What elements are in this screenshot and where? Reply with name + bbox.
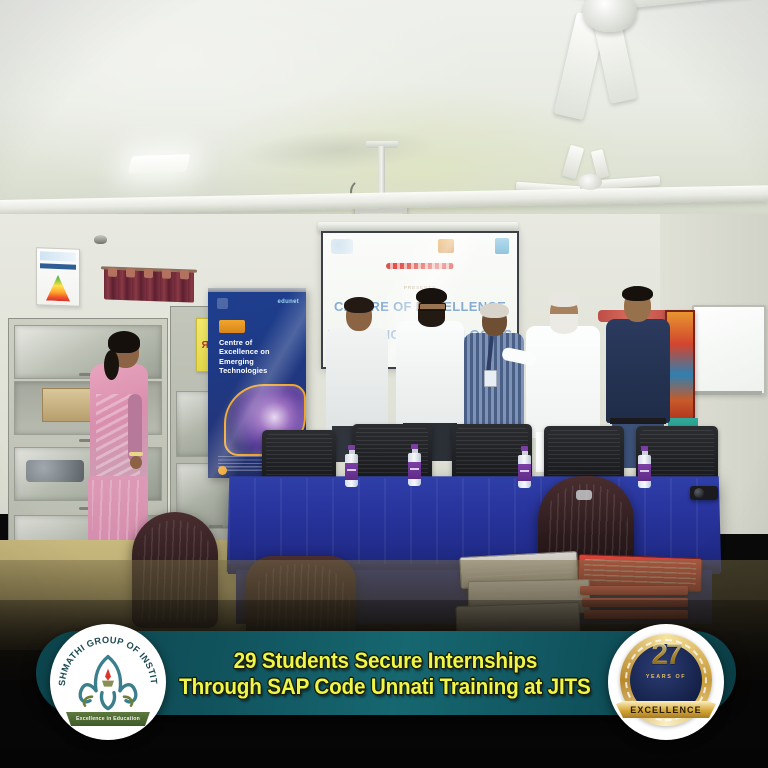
water-bottle: [345, 445, 358, 487]
camera-icon: [690, 486, 718, 500]
whiteboard-tray: [692, 391, 762, 395]
anniversary-badge: 27 YEARS OF EXCELLENCE: [608, 624, 724, 740]
led-panel-light-icon: [127, 154, 190, 174]
headline-line-1: 29 Students Secure Internships: [233, 648, 537, 674]
ceiling-sensor-icon: [94, 235, 107, 244]
headline-line-2: Through SAP Code Unnati Training at JITS: [179, 674, 590, 700]
water-bottle: [518, 446, 531, 488]
badge-ribbon: EXCELLENCE: [616, 701, 716, 718]
eyeglasses-icon: [419, 303, 446, 311]
badge-ribbon-text: EXCELLENCE: [630, 705, 702, 715]
institution-logo: JYOTHISHMATHI GROUP OF INSTITUTIONS Exce…: [50, 624, 166, 740]
event-photo-card: PRESENTS CENTRE OF EXCELLENCE in EMERGIN…: [0, 0, 768, 768]
water-bottle: [408, 444, 421, 486]
cabinet-equipment: [26, 460, 84, 482]
badge-years-label: YEARS OF: [608, 674, 724, 680]
institution-ribbon: Excellence in Education: [66, 712, 150, 726]
ceiling-fan-icon: [505, 0, 768, 102]
water-bottle: [638, 446, 651, 488]
window-curtain-valance: [104, 266, 194, 305]
headline-banner: 29 Students Secure Internships Through S…: [150, 636, 620, 712]
institution-crest-icon: [72, 647, 144, 715]
wall-poster: [36, 247, 80, 307]
institution-tagline: Excellence in Education: [76, 716, 140, 722]
id-badge: [484, 370, 497, 387]
badge-year-number: 27: [608, 640, 724, 670]
whiteboard: [692, 305, 766, 395]
